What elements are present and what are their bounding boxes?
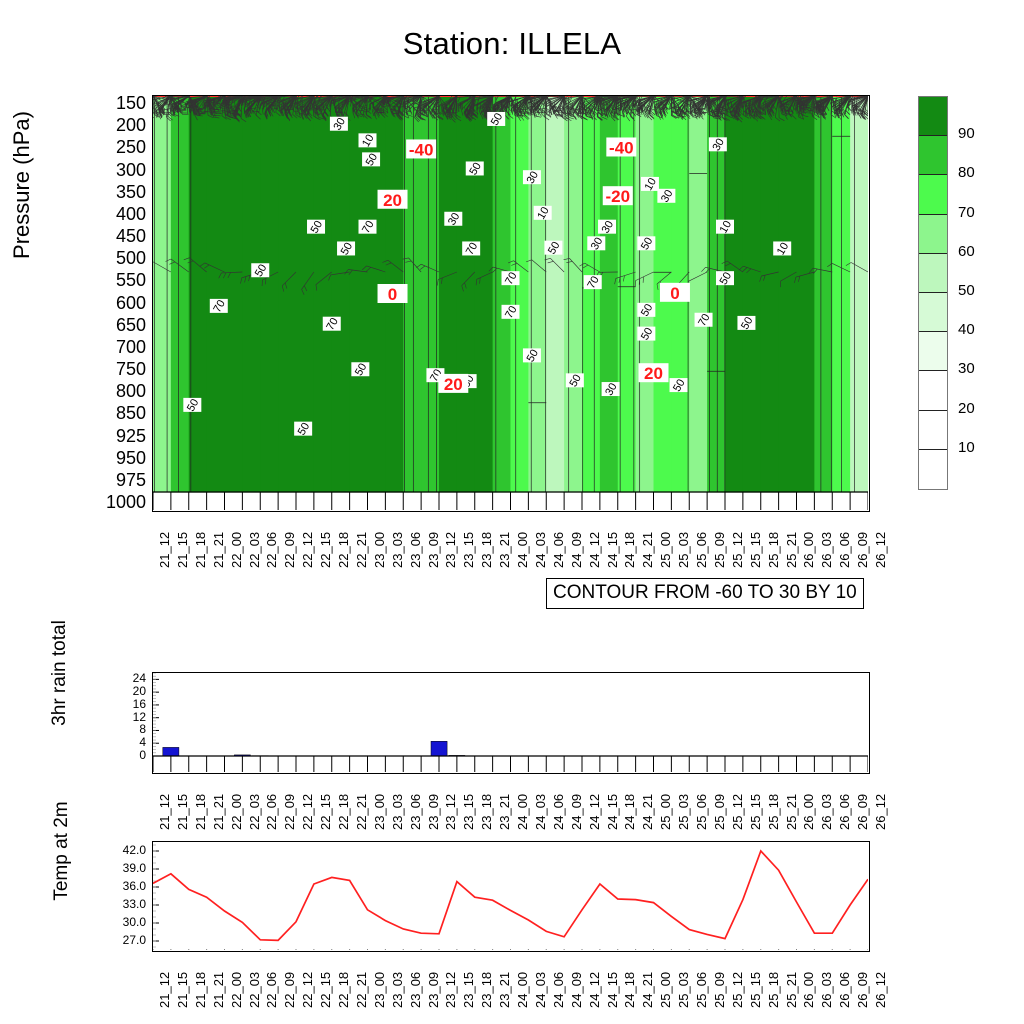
humidity-cell xyxy=(493,96,511,493)
humidity-cell xyxy=(189,96,207,493)
main-y-tick: 600 xyxy=(84,293,146,314)
humidity-cell xyxy=(725,96,743,493)
humidity-cell xyxy=(242,96,260,493)
cross-section-plot: 3050103050503010301030507030105070503050… xyxy=(152,95,870,512)
main-y-tick: 1000 xyxy=(84,492,146,513)
humidity-cell xyxy=(761,96,779,493)
main-y-tick: 250 xyxy=(84,137,146,158)
humidity-cell xyxy=(439,96,457,493)
main-y-tick: 500 xyxy=(84,248,146,269)
main-y-tick: 950 xyxy=(84,448,146,469)
main-y-tick: 400 xyxy=(84,204,146,225)
cross-section-graphic: 3050103050503010301030507030105070503050… xyxy=(153,96,868,510)
main-y-tick: 750 xyxy=(84,359,146,380)
main-y-tick: 975 xyxy=(84,470,146,491)
humidity-cell xyxy=(171,96,189,493)
main-y-tick: 650 xyxy=(84,315,146,336)
humidity-cell xyxy=(260,96,278,493)
main-y-tick: 450 xyxy=(84,226,146,247)
humidity-cell xyxy=(511,96,529,493)
humidity-cell xyxy=(850,96,868,493)
main-y-tick: 150 xyxy=(84,93,146,114)
main-y-tick: 350 xyxy=(84,182,146,203)
humidity-cell xyxy=(546,96,564,493)
humidity-cell xyxy=(207,96,225,493)
humidity-cell xyxy=(153,96,171,493)
humidity-cell xyxy=(225,96,243,493)
humidity-cell xyxy=(636,96,654,493)
humidity-cell xyxy=(779,96,797,493)
main-y-tick: 800 xyxy=(84,381,146,402)
weather-sounding-page: Station: ILLELA Pressure (hPa) 150200250… xyxy=(0,0,1024,1024)
main-y-tick: 300 xyxy=(84,160,146,181)
humidity-fill xyxy=(153,96,868,493)
main-y-axis-ticks: 1502002503003504004505005506006507007508… xyxy=(66,95,146,512)
main-y-tick: 700 xyxy=(84,337,146,358)
main-y-tick: 850 xyxy=(84,403,146,424)
humidity-cell xyxy=(564,96,582,493)
main-y-tick: 550 xyxy=(84,270,146,291)
humidity-cell xyxy=(278,96,296,493)
humidity-cell xyxy=(457,96,475,493)
page-title: Station: ILLELA xyxy=(0,26,1024,62)
humidity-cell xyxy=(582,96,600,493)
humidity-cell xyxy=(332,96,350,493)
main-y-axis-label: Pressure (hPa) xyxy=(9,15,35,355)
humidity-cell xyxy=(797,96,815,493)
humidity-cell xyxy=(743,96,761,493)
main-y-tick: 925 xyxy=(84,426,146,447)
humidity-cell xyxy=(689,96,707,493)
main-y-tick: 200 xyxy=(84,115,146,136)
humidity-cell xyxy=(475,96,493,493)
humidity-cell xyxy=(814,96,832,493)
humidity-cell xyxy=(314,96,332,493)
